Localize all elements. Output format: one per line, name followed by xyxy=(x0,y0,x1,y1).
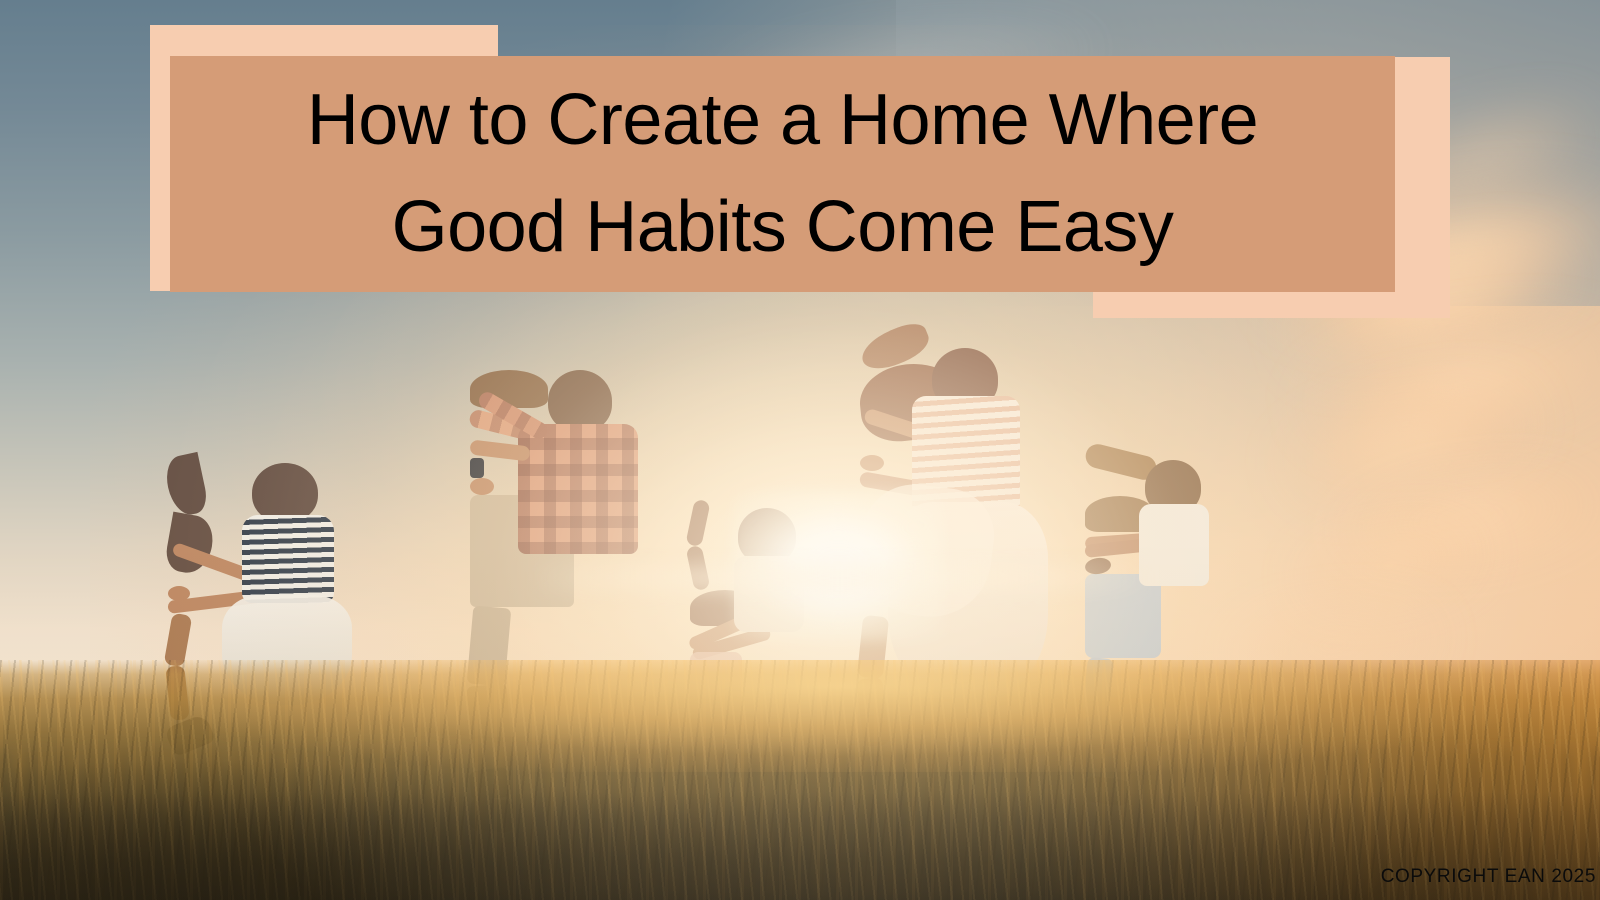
title-banner: How to Create a Home Where Good Habits C… xyxy=(0,0,1600,340)
grass-foreground xyxy=(0,660,1600,900)
page-title-line-1: How to Create a Home Where xyxy=(307,84,1258,157)
banner-main-panel: How to Create a Home Where Good Habits C… xyxy=(170,56,1395,292)
sun-streak xyxy=(530,565,1150,591)
hero-banner-image: How to Create a Home Where Good Habits C… xyxy=(0,0,1600,900)
grass-vignette xyxy=(0,660,1600,900)
copyright-notice: COPYRIGHT EAN 2025 xyxy=(1381,866,1596,888)
page-title-line-2: Good Habits Come Easy xyxy=(392,191,1174,264)
